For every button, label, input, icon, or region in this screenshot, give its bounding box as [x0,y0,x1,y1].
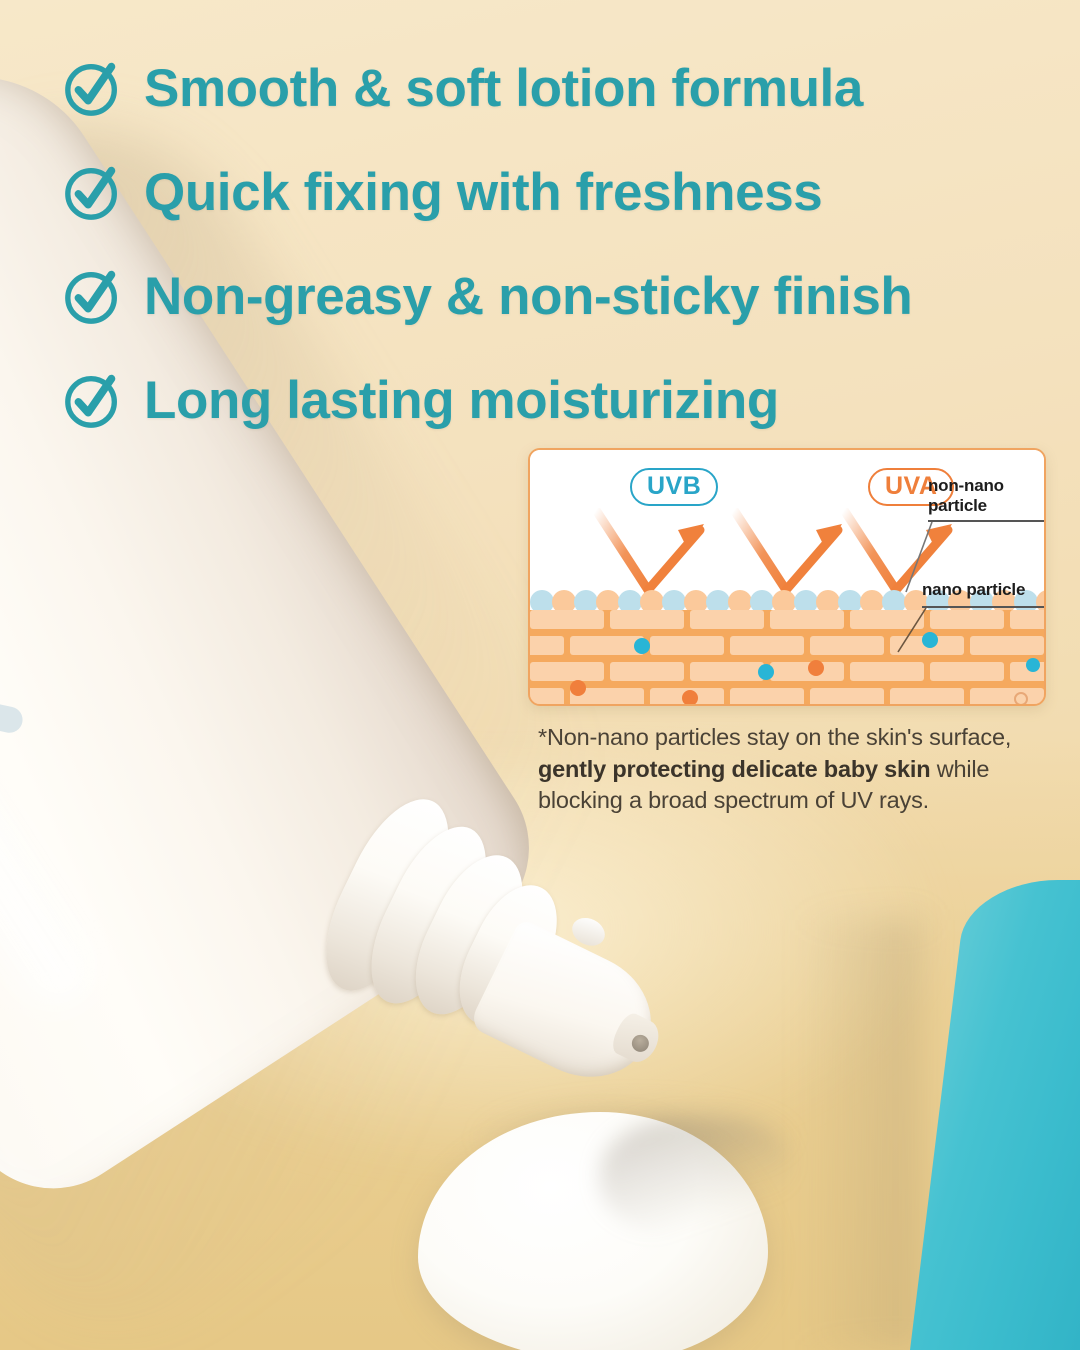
nano-particle-dot-cyan [634,638,650,654]
skin-brick [770,662,844,681]
skin-brick [610,610,684,629]
nano-callout-label: nano particle [922,580,1046,600]
nano-particle-dot-cyan [758,664,774,680]
feature-item: Quick fixing with freshness [62,148,1062,236]
nano-particle-dot-orange [570,680,586,696]
skin-brick [770,610,844,629]
nano-callout-leader [892,606,928,656]
non-nano-callout-label: non-nano particle [928,476,1044,516]
nano-particle-dot-orange [808,660,824,676]
skin-brick [690,610,764,629]
skin-brick [930,610,1004,629]
caption-after-bold: while [930,756,989,782]
skin-brick [570,636,644,655]
skin-brick [530,688,564,704]
feature-item: Smooth & soft lotion formula [62,44,1062,132]
caption-line-1: *Non-nano particles stay on the skin's s… [538,724,1011,750]
feature-label: Quick fixing with freshness [144,166,822,219]
feature-item: Non-greasy & non-sticky finish [62,252,1062,340]
check-circle-icon [62,161,124,223]
skin-brick [610,662,684,681]
non-nano-callout-rule [928,520,1044,522]
skin-brick [850,662,924,681]
skin-brick [810,636,884,655]
uv-ray-1 [592,508,722,594]
feature-label: Smooth & soft lotion formula [144,62,863,115]
nano-particle-dot-cyan [1026,658,1040,672]
skin-brick [890,688,964,704]
skin-brick [690,662,764,681]
skin-brick [530,636,564,655]
uvb-badge: UVB [630,468,718,506]
check-circle-icon [62,57,124,119]
feature-list: Smooth & soft lotion formula Quick fixin… [62,44,1062,460]
nano-particle-dot-orange [682,690,698,704]
skin-brick [730,688,804,704]
nano-line-1: nano particle [922,580,1025,599]
nano-particle-dot-hollow [1014,692,1028,704]
skin-brick [730,636,804,655]
caption-bold: gently protecting delicate baby skin [538,756,930,782]
skin-brick [1010,610,1044,629]
skin-brick [930,662,1004,681]
sun-ray [0,700,25,735]
feature-label: Long lasting moisturizing [144,374,779,427]
diagram-caption: *Non-nano particles stay on the skin's s… [538,722,1048,817]
non-nano-line-1: non-nano [928,476,1004,495]
caption-line-3: blocking a broad spectrum of UV rays. [538,787,929,813]
poster-canvas: WATERFUL SUN LOTION Smooth & soft lotion… [0,0,1080,1350]
feature-label: Non-greasy & non-sticky finish [144,270,912,323]
skin-layer [530,610,1044,704]
skin-brick [970,636,1044,655]
skin-brick [810,688,884,704]
feature-item: Long lasting moisturizing [62,356,1062,444]
check-circle-icon [62,369,124,431]
nano-callout-rule [922,606,1046,608]
teal-object-shadow [800,920,920,1350]
skin-brick [970,688,1044,704]
skin-brick [530,610,604,629]
check-circle-icon [62,265,124,327]
non-nano-line-2: particle [928,496,987,515]
skin-brick [650,636,724,655]
skin-brick [530,662,604,681]
uv-protection-diagram: UVB UVA [528,448,1046,706]
